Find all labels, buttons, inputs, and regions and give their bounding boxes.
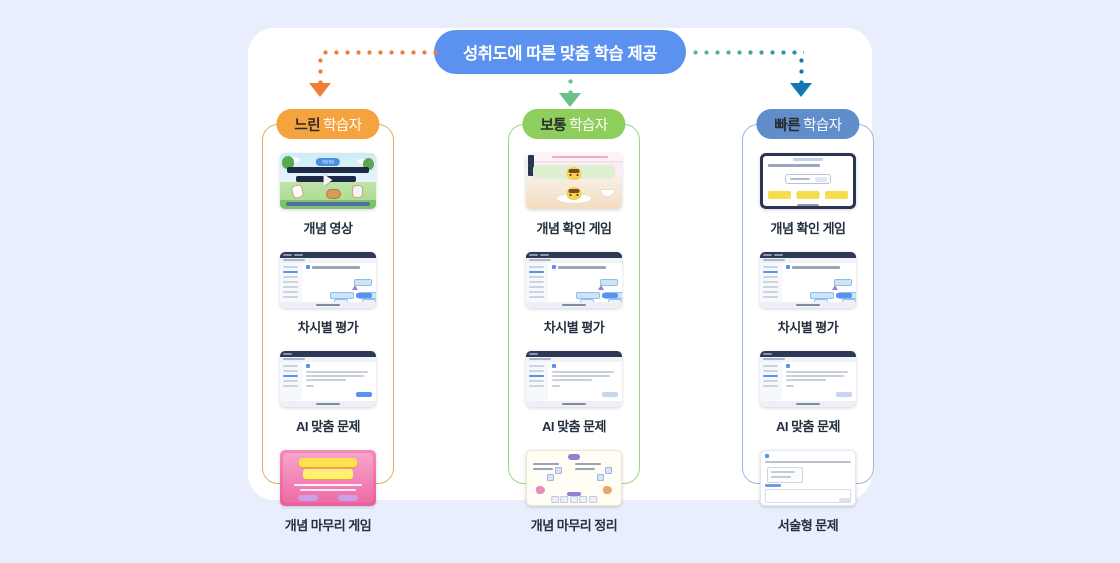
concept-check-quiz-tablet[interactable] bbox=[760, 153, 856, 209]
lesson-assessment-screenshot[interactable] bbox=[760, 252, 856, 308]
main-banner: 성취도에 따른 맞춤 학습 제공 bbox=[434, 30, 686, 74]
badge-light-text: 학습자 bbox=[323, 114, 362, 135]
column-average-learner-badge: 보통 학습자 bbox=[522, 109, 625, 139]
list-item[interactable]: 개념 마무리 게임 bbox=[280, 450, 376, 547]
list-item[interactable]: 개념 마무리 정리 bbox=[526, 450, 622, 547]
essay-question-screenshot[interactable] bbox=[760, 450, 856, 506]
main-banner-label: 성취도에 따른 맞춤 학습 제공 bbox=[463, 40, 657, 64]
badge-light-text: 학습자 bbox=[803, 114, 842, 135]
column-fast-learner-badge: 빠른 학습자 bbox=[756, 109, 859, 139]
list-item-label: 서술형 문제 bbox=[778, 515, 838, 534]
concept-wrapup-game-poster[interactable] bbox=[280, 450, 376, 506]
lesson-assessment-screenshot[interactable] bbox=[526, 252, 622, 308]
list-item-label: AI 맞춤 문제 bbox=[296, 416, 360, 435]
column-fast-learner[interactable]: 빠른 학습자 개념 확인 게임 bbox=[742, 124, 874, 484]
list-item[interactable]: AI 맞춤 문제 bbox=[526, 351, 622, 448]
video-chip: 개념 영상 bbox=[316, 158, 340, 166]
list-item-label: 차시별 평가 bbox=[544, 317, 604, 336]
diagram-stage: 성취도에 따른 맞춤 학습 제공 느린 학습자 개념 영상 bbox=[0, 0, 1120, 520]
list-item[interactable]: 개념 확인 게임 bbox=[526, 153, 622, 250]
list-item[interactable]: 서술형 문제 bbox=[760, 450, 856, 547]
list-item[interactable]: 차시별 평가 bbox=[526, 252, 622, 349]
concept-summary-screenshot[interactable] bbox=[526, 450, 622, 506]
list-item-label: AI 맞춤 문제 bbox=[776, 416, 840, 435]
list-item[interactable]: 차시별 평가 bbox=[280, 252, 376, 349]
ai-custom-question-screenshot[interactable] bbox=[526, 351, 622, 407]
list-item[interactable]: 차시별 평가 bbox=[760, 252, 856, 349]
concept-check-game-screenshot[interactable] bbox=[526, 153, 622, 209]
column-slow-learner-badge: 느린 학습자 bbox=[276, 109, 379, 139]
list-item-label: 개념 마무리 정리 bbox=[531, 515, 617, 534]
list-item[interactable]: AI 맞춤 문제 bbox=[280, 351, 376, 448]
badge-strong-text: 느린 bbox=[294, 114, 320, 135]
list-item-label: AI 맞춤 문제 bbox=[542, 416, 606, 435]
list-item-label: 차시별 평가 bbox=[298, 317, 358, 336]
badge-light-text: 학습자 bbox=[569, 114, 608, 135]
list-item-label: 차시별 평가 bbox=[778, 317, 838, 336]
lesson-assessment-screenshot[interactable] bbox=[280, 252, 376, 308]
column-slow-learner[interactable]: 느린 학습자 개념 영상 bbox=[262, 124, 394, 484]
list-item[interactable]: 개념 영상 개념 영상 bbox=[280, 153, 376, 250]
play-icon[interactable] bbox=[324, 174, 333, 186]
list-item-label: 개념 확인 게임 bbox=[771, 218, 846, 237]
list-item[interactable]: 개념 확인 게임 bbox=[760, 153, 856, 250]
badge-strong-text: 빠른 bbox=[774, 114, 800, 135]
list-item-label: 개념 확인 게임 bbox=[537, 218, 612, 237]
ai-custom-question-screenshot[interactable] bbox=[280, 351, 376, 407]
badge-strong-text: 보통 bbox=[540, 114, 566, 135]
list-item-label: 개념 영상 bbox=[304, 218, 353, 237]
column-average-learner[interactable]: 보통 학습자 개념 확인 게임 bbox=[508, 124, 640, 484]
concept-video-thumbnail[interactable]: 개념 영상 bbox=[280, 153, 376, 209]
list-item-label: 개념 마무리 게임 bbox=[285, 515, 371, 534]
list-item[interactable]: AI 맞춤 문제 bbox=[760, 351, 856, 448]
ai-custom-question-screenshot[interactable] bbox=[760, 351, 856, 407]
